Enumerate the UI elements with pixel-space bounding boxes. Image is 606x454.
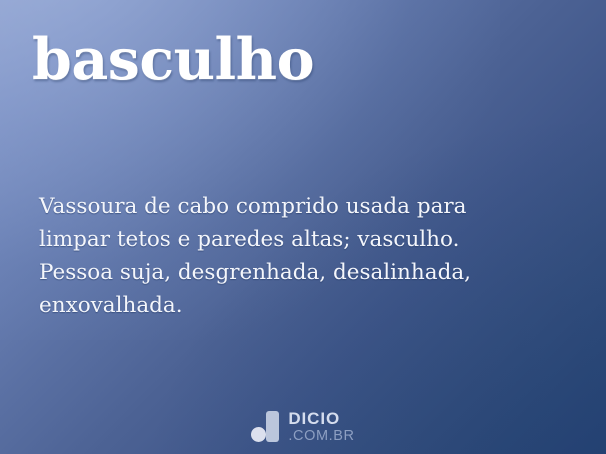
definition-block: Vassoura de cabo comprido usada para lim… — [39, 190, 563, 322]
dicio-mark-icon — [251, 411, 279, 442]
dicio-logo[interactable]: DICIO .COM.BR — [0, 410, 606, 444]
definition-line: limpar tetos e paredes altas; vasculho. — [39, 223, 563, 256]
page-title: basculho — [32, 26, 314, 94]
rounded-bar-icon — [266, 411, 279, 442]
logo-domain: .COM.BR — [288, 429, 354, 444]
definition-line: enxovalhada. — [39, 289, 563, 322]
definition-line: Pessoa suja, desgrenhada, desalinhada, — [39, 256, 563, 289]
logo-text-group: DICIO .COM.BR — [288, 410, 354, 444]
logo-name: DICIO — [288, 410, 354, 427]
dictionary-entry-card: basculho Vassoura de cabo comprido usada… — [0, 0, 606, 454]
definition-line: Vassoura de cabo comprido usada para — [39, 190, 563, 223]
circle-dot-icon — [251, 427, 266, 442]
